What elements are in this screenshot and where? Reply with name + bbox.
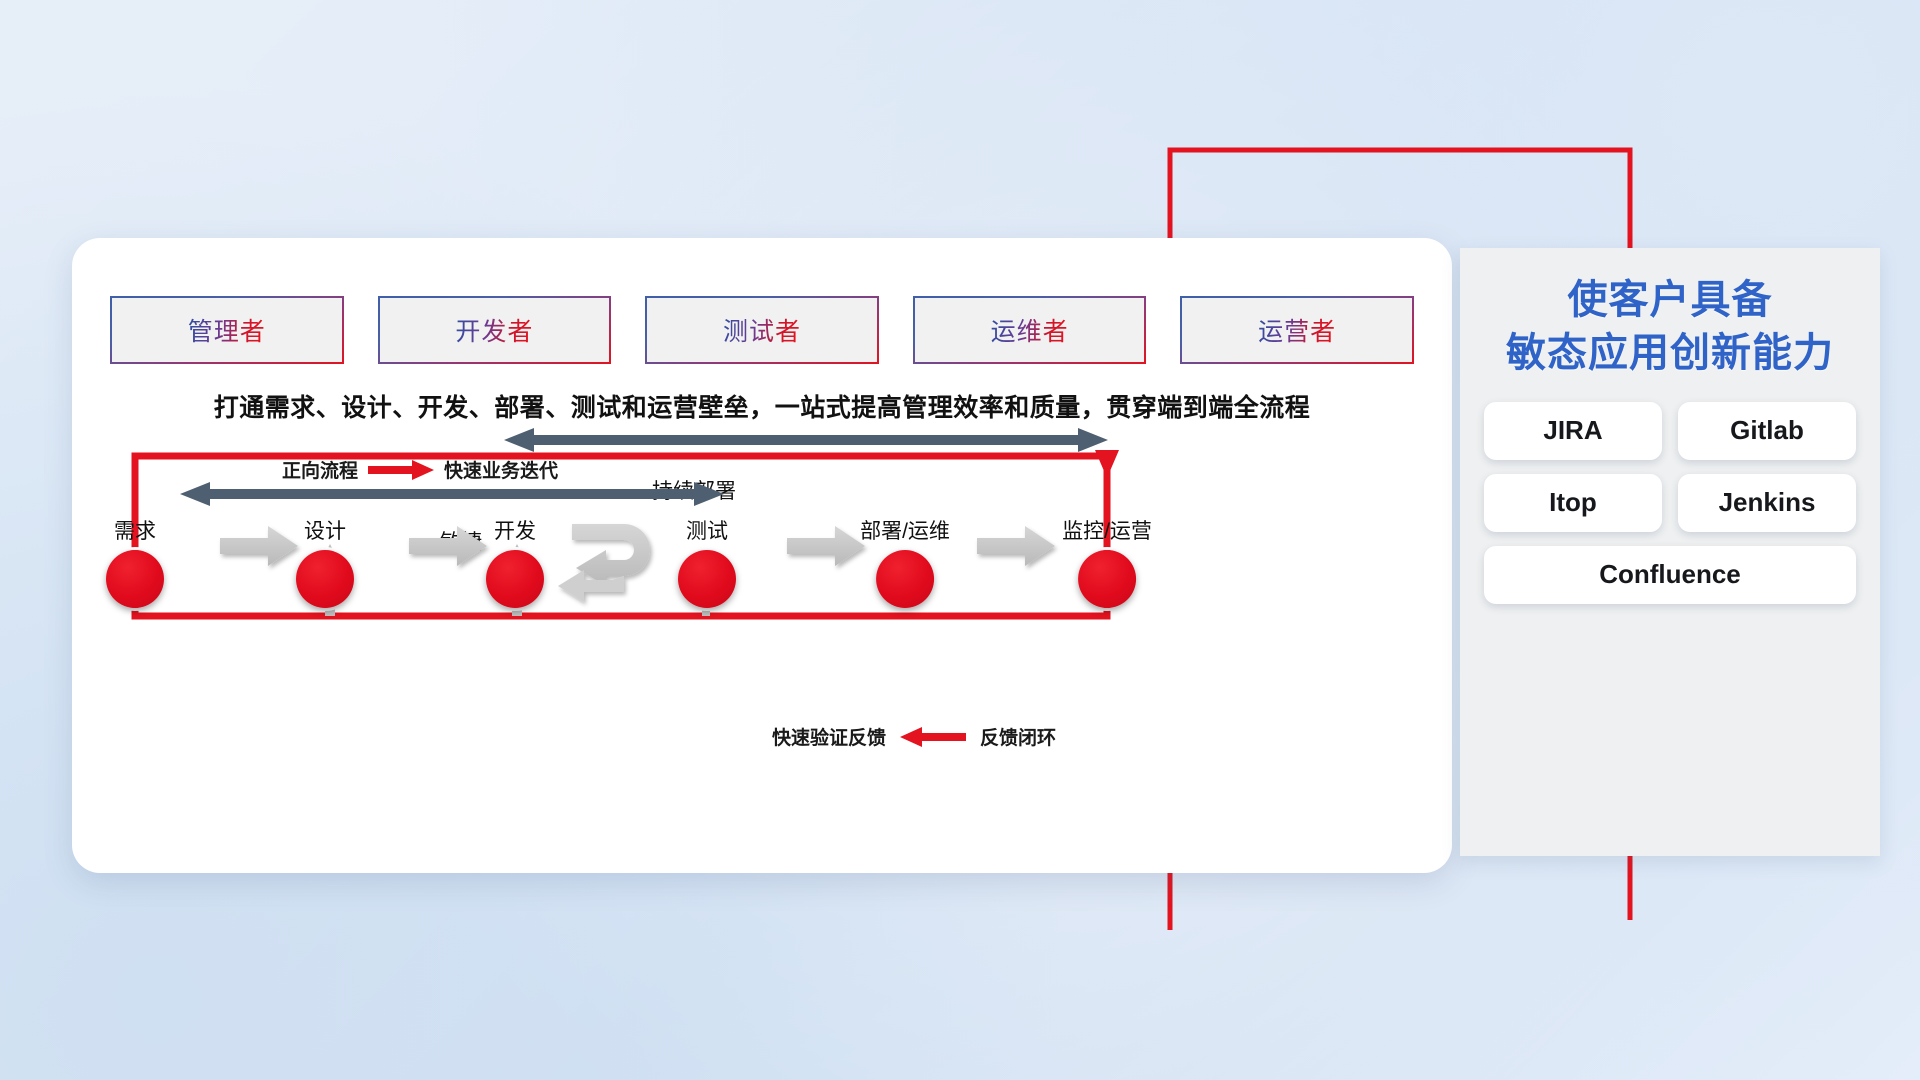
pipeline-node-requirements[interactable]: 需求 <box>106 515 164 608</box>
legend-feedback-to-label: 反馈闭环 <box>980 723 1056 750</box>
node-dot-icon <box>486 550 544 608</box>
tool-chip-label: Gitlab <box>1730 415 1804 446</box>
role-box-manager[interactable]: 管理者 <box>112 298 342 362</box>
main-card: 管理者 开发者 测试者 运维者 运营者 打通需求、设计、开发、部署、测试和运营壁… <box>72 238 1452 873</box>
pipeline-node-testing[interactable]: 测试 <box>678 515 736 608</box>
legend-feedback-loop: 快速验证反馈 反馈闭环 <box>772 723 1056 750</box>
node-label: 需求 <box>106 515 164 545</box>
legend-feedback-from-label: 快速验证反馈 <box>772 723 886 750</box>
node-label: 监控/运营 <box>1062 515 1152 545</box>
tool-chip-jenkins[interactable]: Jenkins <box>1678 474 1856 532</box>
slide-canvas: 管理者 开发者 测试者 运维者 运营者 打通需求、设计、开发、部署、测试和运营壁… <box>0 0 1920 1080</box>
pipeline-node-development[interactable]: 开发 <box>486 515 544 608</box>
role-box-operations[interactable]: 运营者 <box>1182 298 1412 362</box>
node-dot-icon <box>876 550 934 608</box>
red-left-arrow-icon <box>900 727 966 747</box>
role-box-developer[interactable]: 开发者 <box>380 298 610 362</box>
node-dot-icon <box>296 550 354 608</box>
tool-chip-label: Jenkins <box>1719 487 1816 518</box>
role-box-ops[interactable]: 运维者 <box>915 298 1145 362</box>
value-panel: 使客户具备 敏态应用创新能力 JIRA Gitlab Itop Jenkins … <box>1460 248 1880 856</box>
role-box-tester[interactable]: 测试者 <box>647 298 877 362</box>
tool-chip-confluence[interactable]: Confluence <box>1484 546 1856 604</box>
node-dot-icon <box>106 550 164 608</box>
role-box-row: 管理者 开发者 测试者 运维者 运营者 <box>112 298 1412 362</box>
panel-title-line-1: 使客户具备 <box>1478 274 1862 327</box>
role-label: 管理者 <box>188 312 266 348</box>
role-label: 开发者 <box>455 312 533 348</box>
node-label: 开发 <box>486 515 544 545</box>
role-label: 运营者 <box>1258 312 1336 348</box>
pipeline-node-monitor-operations[interactable]: 监控/运营 <box>1062 515 1152 608</box>
node-dot-icon <box>1078 550 1136 608</box>
panel-title-line-2: 敏态应用创新能力 <box>1478 327 1862 380</box>
tool-chip-label: JIRA <box>1543 415 1602 446</box>
node-label: 测试 <box>678 515 736 545</box>
tool-chip-label: Confluence <box>1599 559 1741 590</box>
node-dot-icon <box>678 550 736 608</box>
node-label: 设计 <box>296 515 354 545</box>
tool-chip-jira[interactable]: JIRA <box>1484 402 1662 460</box>
role-label: 运维者 <box>991 312 1069 348</box>
panel-title: 使客户具备 敏态应用创新能力 <box>1478 274 1862 380</box>
pipeline-node-deploy-ops[interactable]: 部署/运维 <box>860 515 950 608</box>
tool-chip-itop[interactable]: Itop <box>1484 474 1662 532</box>
node-label: 部署/运维 <box>860 515 950 545</box>
role-label: 测试者 <box>723 312 801 348</box>
tool-chip-label: Itop <box>1549 487 1597 518</box>
pipeline-node-design[interactable]: 设计 <box>296 515 354 608</box>
tool-chip-gitlab[interactable]: Gitlab <box>1678 402 1856 460</box>
tool-chip-list: JIRA Gitlab Itop Jenkins Confluence <box>1476 402 1864 604</box>
